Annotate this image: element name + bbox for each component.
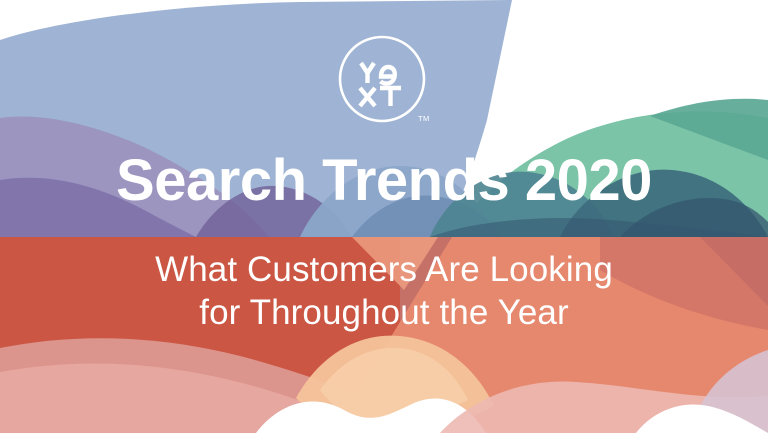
subtitle-line-2: for Throughout the Year bbox=[0, 291, 768, 334]
logo-letter-y bbox=[361, 63, 374, 73]
title-block: Search Trends 2020 bbox=[0, 152, 768, 210]
page-title: Search Trends 2020 bbox=[0, 152, 768, 210]
subtitle-block: What Customers Are Looking for Throughou… bbox=[0, 248, 768, 335]
logo-trademark-icon: TM bbox=[418, 114, 430, 123]
subtitle-line-1: What Customers Are Looking bbox=[0, 248, 768, 291]
yext-logo: TM bbox=[336, 33, 432, 129]
logo-letter-e bbox=[381, 67, 395, 84]
logo-circle-icon bbox=[340, 37, 424, 121]
cover-image: TM Search Trends 2020 What Customers Are… bbox=[0, 0, 768, 433]
cover-content: TM Search Trends 2020 What Customers Are… bbox=[0, 0, 768, 433]
